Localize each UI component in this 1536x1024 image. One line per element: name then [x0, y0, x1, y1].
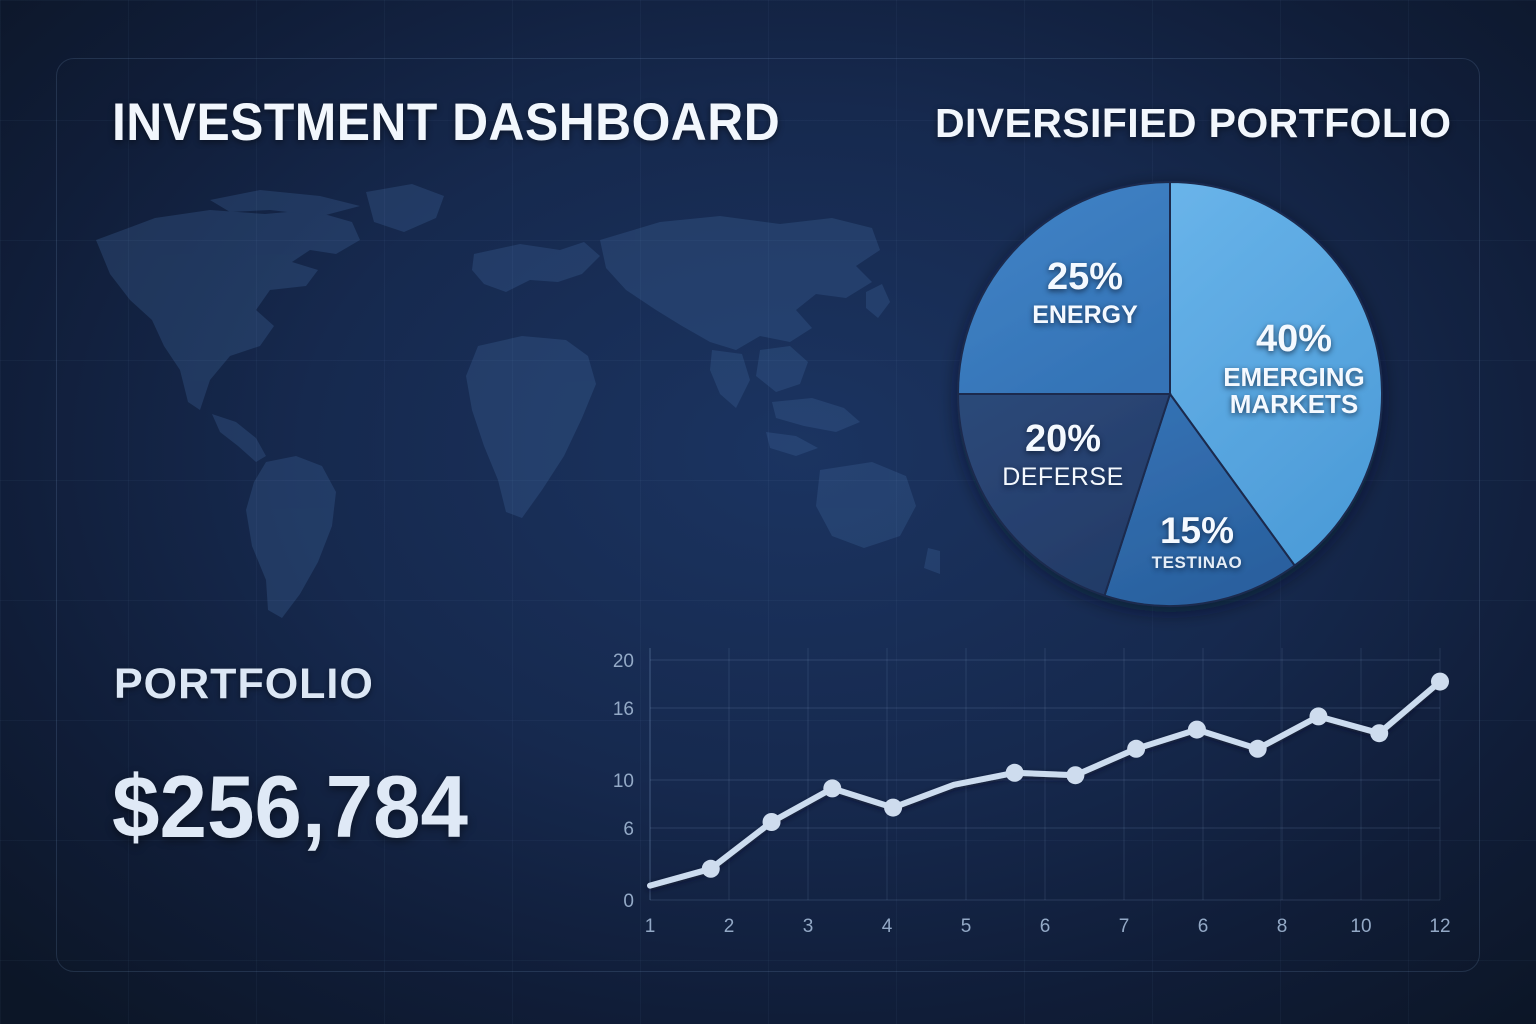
x-axis-tick: 10 — [1350, 916, 1371, 937]
page-title: INVESTMENT DASHBOARD — [112, 92, 780, 153]
chart-data-point — [884, 799, 902, 817]
chart-x-axis-labels: 1234567681012 — [645, 916, 1451, 937]
x-axis-tick: 4 — [882, 916, 893, 937]
portfolio-value: $256,784 — [112, 756, 468, 858]
x-axis-tick: 6 — [1198, 916, 1209, 937]
chart-data-point — [763, 813, 781, 831]
chart-data-point — [1309, 707, 1327, 725]
world-map-watermark — [60, 170, 940, 640]
portfolio-label: PORTFOLIO — [114, 660, 374, 709]
chart-data-point — [1188, 721, 1206, 739]
x-axis-tick: 3 — [803, 916, 814, 937]
x-axis-tick: 6 — [1040, 916, 1051, 937]
x-axis-tick: 7 — [1119, 916, 1130, 937]
chart-data-point — [1249, 740, 1267, 758]
chart-data-point — [1066, 766, 1084, 784]
chart-data-point — [1431, 673, 1449, 691]
pie-chart — [944, 178, 1396, 610]
chart-data-point — [702, 860, 720, 878]
pie-chart-title: DIVERSIFIED PORTFOLIO — [935, 100, 1451, 147]
pie-slice-energy — [958, 182, 1170, 394]
x-axis-tick: 8 — [1277, 916, 1288, 937]
chart-data-point — [823, 779, 841, 797]
chart-data-markers — [702, 673, 1449, 878]
dashboard-root: INVESTMENT DASHBOARD DIVERSIFIED PORTFOL… — [0, 0, 1536, 1024]
y-axis-tick: 10 — [613, 771, 634, 792]
x-axis-tick: 1 — [645, 916, 656, 937]
chart-data-point — [1006, 764, 1024, 782]
x-axis-tick: 12 — [1429, 916, 1450, 937]
x-axis-tick: 2 — [724, 916, 735, 937]
y-axis-tick: 0 — [623, 891, 634, 912]
y-axis-tick: 16 — [613, 699, 634, 720]
chart-data-point — [1370, 724, 1388, 742]
performance-line-chart: 06101620 1234567681012 — [598, 636, 1448, 946]
chart-data-point — [1127, 740, 1145, 758]
chart-y-axis-labels: 06101620 — [613, 651, 634, 912]
y-axis-tick: 6 — [623, 819, 634, 840]
x-axis-tick: 5 — [961, 916, 972, 937]
y-axis-tick: 20 — [613, 651, 634, 672]
